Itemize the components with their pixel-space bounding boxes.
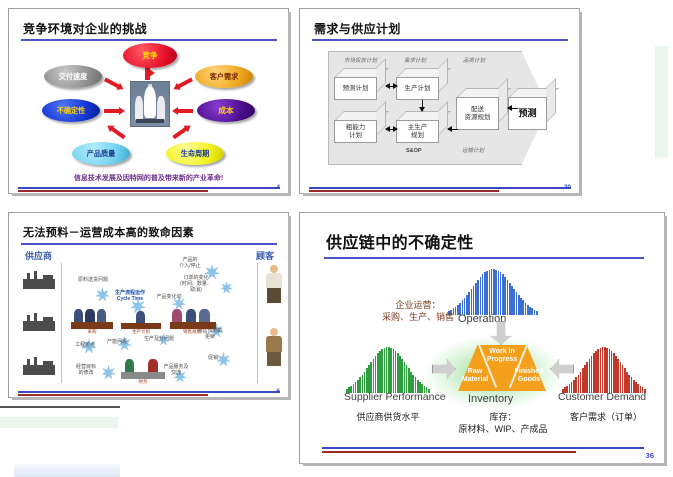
slide-title: 无法预料－运营成本高的致命因素 bbox=[23, 224, 194, 240]
header-customer: 顾客 bbox=[256, 249, 274, 262]
footer-rule-red bbox=[18, 190, 208, 192]
arrow-uncertainty bbox=[104, 109, 120, 113]
slide-page-number: 6 bbox=[276, 388, 280, 395]
node-label: 竞争 bbox=[142, 50, 157, 60]
box-rough-capacity-plan[interactable]: 粗能力 计划 bbox=[334, 111, 386, 143]
curve-label-customer: Customer Demand bbox=[558, 391, 646, 403]
slide-thumbnail-3[interactable]: 无法预料－运营成本高的致命因素 供应商 顾客 bbox=[8, 212, 289, 398]
box-label: 配送 资源规划 bbox=[456, 97, 499, 130]
label-product-intro-stop: 产品的 介入/停止 bbox=[167, 258, 213, 270]
burst-icon bbox=[220, 281, 233, 294]
box-label: 粗能力 计划 bbox=[334, 120, 377, 143]
slide-shadow-bottom bbox=[303, 463, 667, 466]
arrow-lifecycle bbox=[172, 127, 187, 139]
slide-shadow bbox=[288, 216, 291, 400]
footer-rule-red bbox=[309, 190, 499, 192]
node-uncertainty[interactable]: 不确定性 bbox=[42, 99, 100, 122]
customer-icon bbox=[264, 265, 284, 303]
slide-page-number: 4 bbox=[276, 184, 280, 191]
customer-icon bbox=[264, 328, 284, 366]
label-product-change: 产品变化动 bbox=[145, 295, 193, 301]
slide-shadow bbox=[288, 12, 291, 196]
meeting-label: 财务 bbox=[119, 379, 167, 385]
connector-capacity-mps bbox=[386, 129, 397, 130]
caption-supplier: 供应商供货水平 bbox=[340, 411, 436, 423]
connector-drp-forecast bbox=[508, 108, 518, 109]
box-forecast-plan[interactable]: 预测计划 bbox=[334, 68, 386, 100]
slide-thumbnail-2[interactable]: 需求与供应计划 市场投放计划 需求计划 品类计划 预测计划 生产计划 粗能力 计… bbox=[299, 8, 580, 194]
box-label: 生产计划 bbox=[396, 77, 439, 100]
label-demand-plan: 需求计划 bbox=[404, 56, 426, 64]
footer-rule-red bbox=[18, 394, 208, 396]
box-master-production-schedule[interactable]: 主生产 规划 bbox=[396, 111, 448, 143]
slide-shadow bbox=[664, 216, 667, 466]
label-capacity-issue: 产能问题 bbox=[97, 340, 137, 346]
connector-forecast-production bbox=[386, 86, 397, 87]
label-market-plan: 市场投放计划 bbox=[344, 56, 377, 64]
box-label: 预测计划 bbox=[334, 77, 377, 100]
title-rule bbox=[21, 39, 277, 41]
connector-production-mps bbox=[422, 100, 423, 111]
slide-page-number: 20 bbox=[564, 184, 571, 191]
meeting-purchasing bbox=[71, 307, 113, 329]
slide-caption: 信息技术发展及因特网的普及带来新的产业革命! bbox=[9, 173, 288, 183]
curve-label-supplier: Supplier Performance bbox=[344, 391, 446, 403]
node-customer-demand[interactable]: 客户需求 bbox=[195, 65, 253, 88]
factory-icon bbox=[23, 313, 55, 331]
slide-shadow-bottom bbox=[12, 397, 291, 400]
slide-page-number: 36 bbox=[646, 451, 654, 460]
triangle-label-finished: Finished Goods bbox=[510, 368, 548, 383]
caption-customer: 客户需求（订单） bbox=[554, 411, 658, 423]
footer-rule-red bbox=[322, 451, 576, 453]
slide-title: 供应链中的不确定性 bbox=[326, 229, 474, 253]
arrow-delivery bbox=[104, 77, 120, 88]
green-dashed-horizontal bbox=[0, 417, 118, 428]
box-drp[interactable]: 配送 资源规划 bbox=[456, 88, 508, 130]
caption-inventory: 库存： 原材料、WIP、产成品 bbox=[444, 411, 562, 435]
box-label: 主生产 规划 bbox=[396, 120, 439, 143]
handout-page: 竞争环境对企业的挑战 竞争 交付速度 客户需求 不确定性 成本 bbox=[0, 0, 673, 477]
box-production-plan[interactable]: 生产计划 bbox=[396, 68, 448, 100]
green-dashed-vertical bbox=[655, 46, 668, 158]
footer-rule-blue bbox=[18, 187, 280, 189]
factory-icon bbox=[23, 271, 55, 289]
header-supplier: 供应商 bbox=[25, 249, 52, 262]
node-label: 交付速度 bbox=[59, 71, 88, 81]
curve-supplier bbox=[346, 347, 430, 393]
node-label: 产品质量 bbox=[87, 148, 116, 158]
title-rule bbox=[21, 243, 277, 245]
curve-customer bbox=[562, 347, 646, 393]
space-shuttle-icon bbox=[130, 81, 170, 127]
box-label: 预测 bbox=[508, 97, 547, 130]
curve-operation bbox=[448, 269, 538, 315]
label-goal-change: 经营目标 的修改 bbox=[65, 365, 107, 377]
slide-thumbnail-1[interactable]: 竞争环境对企业的挑战 竞争 交付速度 客户需求 不确定性 成本 bbox=[8, 8, 289, 194]
node-label: 成本 bbox=[218, 105, 233, 115]
meeting-label: 生产计划 bbox=[119, 329, 163, 335]
meeting-finance bbox=[121, 357, 165, 379]
slide-thumbnail-4[interactable]: 供应链中的不确定性 Operation Supplier Performance… bbox=[299, 212, 665, 464]
divider-left bbox=[61, 263, 62, 383]
triangle-label-wip: Work In Progress bbox=[470, 348, 534, 363]
meeting-sales bbox=[170, 307, 216, 329]
label-category-plan: 品类计划 bbox=[463, 56, 485, 64]
annotation-operation: 企业运营： 采购、生产、销售 bbox=[376, 299, 460, 323]
label-material-delivery: 原料送货问题 bbox=[67, 278, 119, 284]
label-sop: S&OP bbox=[406, 148, 422, 154]
arrow-customer bbox=[177, 77, 193, 88]
divider-rule bbox=[0, 406, 120, 408]
node-life-cycle[interactable]: 生命周期 bbox=[166, 142, 224, 165]
triangle-label-raw: Raw Material bbox=[457, 368, 493, 383]
label-production-distribution: 生产及分问题 bbox=[131, 337, 187, 343]
title-rule bbox=[324, 257, 644, 259]
slide-title: 竞争环境对企业的挑战 bbox=[23, 20, 147, 37]
slide-title: 需求与供应计划 bbox=[314, 20, 401, 37]
divider-right bbox=[257, 263, 258, 383]
next-page-edge bbox=[14, 464, 120, 477]
meeting-production bbox=[121, 309, 161, 329]
footer-rule-blue bbox=[309, 187, 571, 189]
connector-mps-drp bbox=[448, 129, 458, 130]
footer-rule-blue bbox=[18, 391, 280, 393]
node-cost[interactable]: 成本 bbox=[197, 99, 255, 122]
box-forecast[interactable]: 预测 bbox=[508, 88, 556, 130]
title-rule bbox=[312, 39, 568, 41]
meeting-label: 采购 bbox=[71, 329, 113, 335]
slide-shadow-bottom bbox=[12, 193, 291, 196]
node-delivery-speed[interactable]: 交付速度 bbox=[44, 65, 102, 88]
node-label: 客户需求 bbox=[210, 71, 239, 81]
node-product-quality[interactable]: 产品质量 bbox=[72, 142, 130, 165]
triangle-label-inventory: Inventory bbox=[468, 393, 513, 405]
meeting-label: 销售规划 bbox=[168, 329, 216, 335]
arrow-quality bbox=[110, 127, 125, 139]
label-logistics-plan: 运输计划 bbox=[462, 146, 484, 154]
footer-rule-blue bbox=[322, 447, 644, 449]
slide-shadow bbox=[579, 12, 582, 196]
node-label: 不确定性 bbox=[57, 105, 86, 115]
node-label: 生命周期 bbox=[181, 148, 210, 158]
arrow-cost bbox=[177, 109, 193, 113]
label-order-change: 订单的变化 (时间、数量、 取消) bbox=[171, 276, 221, 293]
label-promotion: 促销 bbox=[195, 356, 231, 362]
node-competition[interactable]: 竞争 bbox=[123, 43, 177, 68]
factory-icon bbox=[23, 357, 55, 375]
slide-shadow-bottom bbox=[303, 193, 582, 196]
